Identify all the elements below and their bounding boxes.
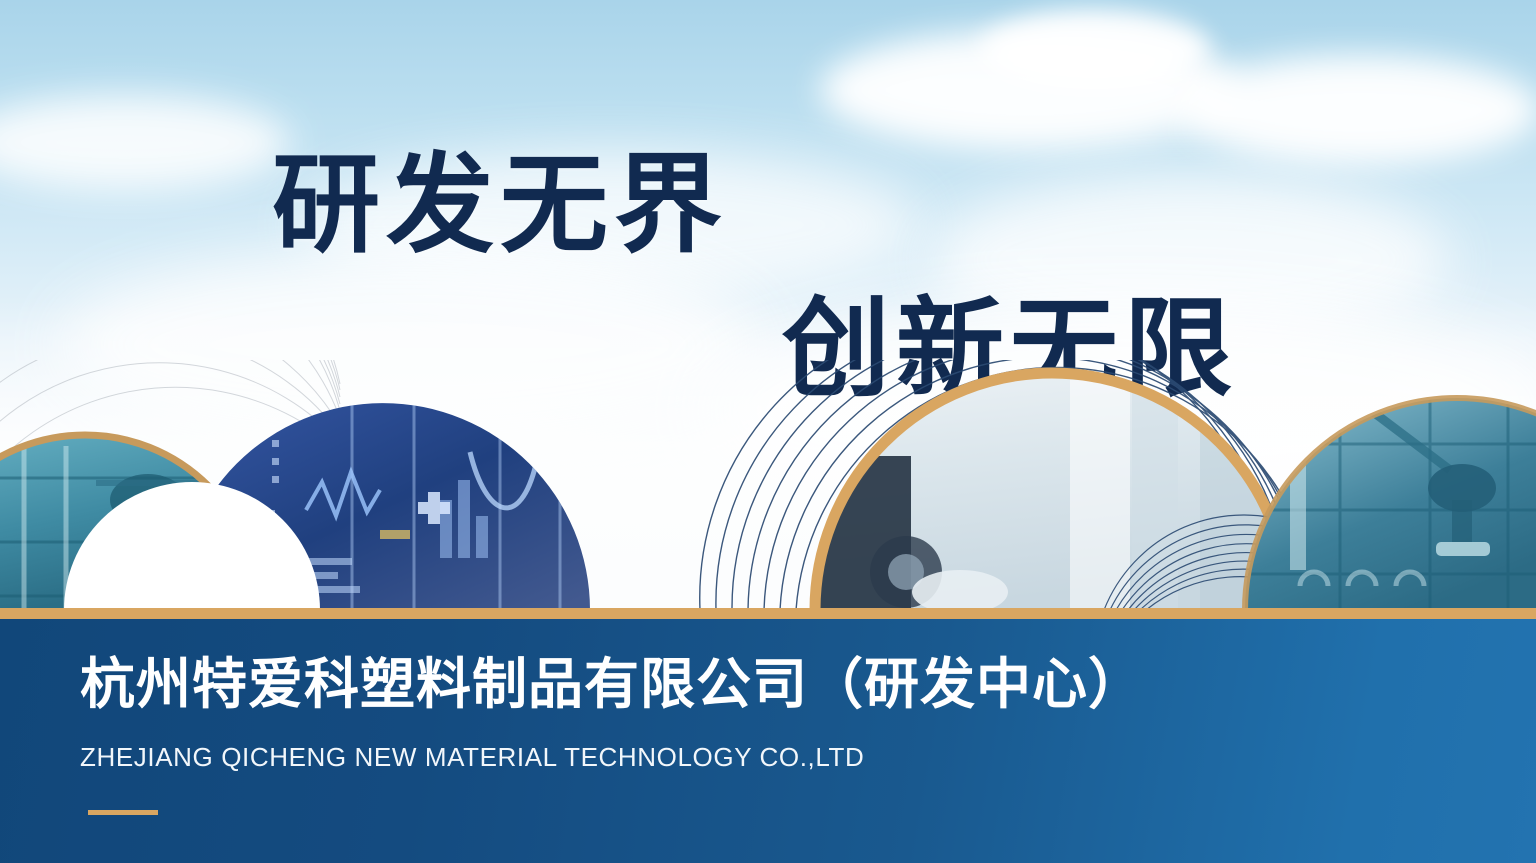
headline-line-1: 研发无界 — [272, 152, 728, 260]
company-name-en: ZHEJIANG QICHENG NEW MATERIAL TECHNOLOGY… — [80, 744, 864, 770]
arch-decoration-band — [0, 360, 1536, 610]
title-slide: 研发无界 创新无限 — [0, 0, 1536, 863]
gold-outline-arch — [810, 360, 1300, 610]
gold-divider-rule — [0, 608, 1536, 619]
footer-accent-line — [88, 810, 158, 815]
company-name-cn: 杭州特爱科塑料制品有限公司（研发中心） — [80, 657, 1144, 712]
